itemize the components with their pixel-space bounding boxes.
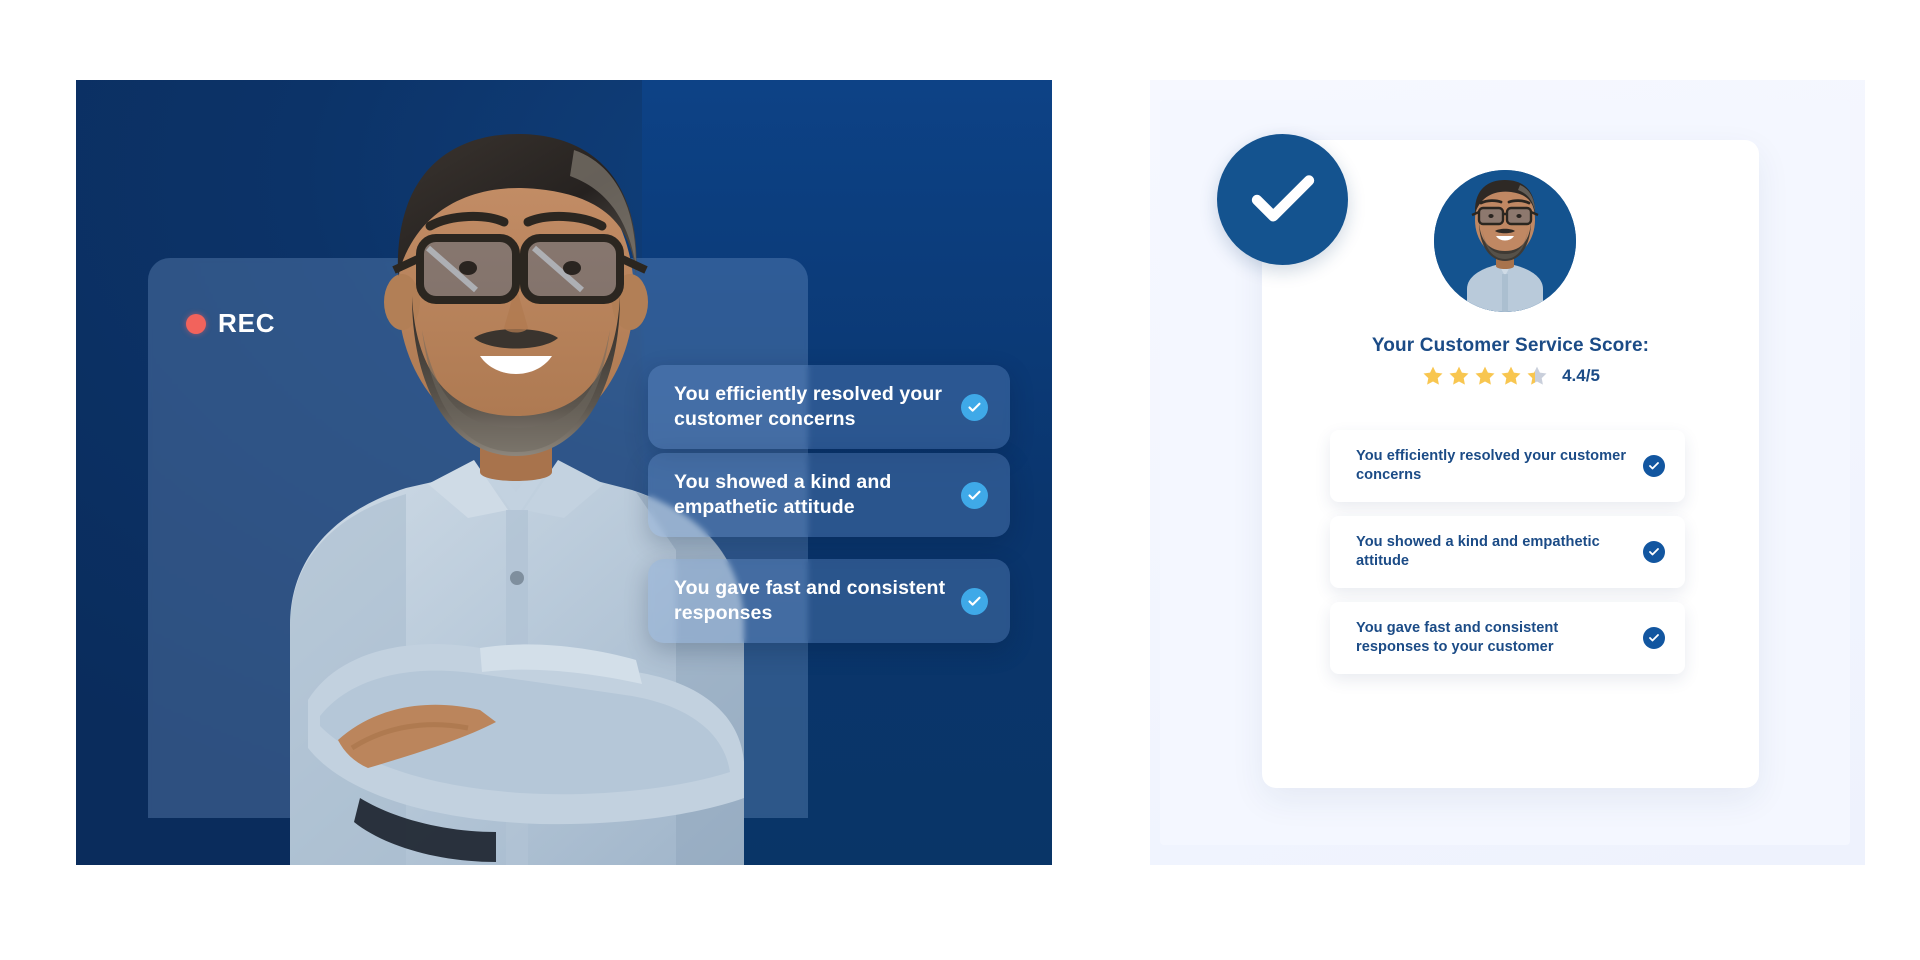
feedback-chip[interactable]: You gave fast and consistent responses xyxy=(648,559,1010,643)
rating-value: 4.4/5 xyxy=(1562,366,1600,386)
star-rating xyxy=(1421,364,1549,388)
rec-label: REC xyxy=(218,308,275,339)
screenshot-root: REC You efficiently resolved your custom… xyxy=(0,0,1920,960)
rec-overlay-card xyxy=(148,258,808,818)
recording-dot-icon xyxy=(186,314,206,334)
check-circle-icon xyxy=(961,482,988,509)
feedback-chip-label: You showed a kind and empathetic attitud… xyxy=(674,470,947,520)
avatar-photo xyxy=(1434,170,1576,312)
check-badge-icon xyxy=(1217,134,1348,265)
feedback-card[interactable]: You gave fast and consistent responses t… xyxy=(1330,602,1685,674)
rating-row: 4.4/5 xyxy=(1262,364,1759,388)
star-icon xyxy=(1499,364,1523,388)
feedback-card[interactable]: You efficiently resolved your customer c… xyxy=(1330,430,1685,502)
feedback-card-label: You showed a kind and empathetic attitud… xyxy=(1356,533,1629,572)
star-icon-partial xyxy=(1525,364,1549,388)
avatar xyxy=(1434,170,1576,312)
check-circle-icon xyxy=(961,394,988,421)
feedback-card[interactable]: You showed a kind and empathetic attitud… xyxy=(1330,516,1685,588)
recording-preview-panel: REC You efficiently resolved your custom… xyxy=(76,80,1052,865)
feedback-card-label: You efficiently resolved your customer c… xyxy=(1356,447,1629,486)
feedback-card-label: You gave fast and consistent responses t… xyxy=(1356,619,1629,658)
check-circle-icon xyxy=(1643,541,1665,563)
feedback-chip[interactable]: You efficiently resolved your customer c… xyxy=(648,365,1010,449)
star-icon xyxy=(1421,364,1445,388)
check-circle-icon xyxy=(961,588,988,615)
check-circle-icon xyxy=(1643,455,1665,477)
feedback-chip-label: You gave fast and consistent responses xyxy=(674,576,947,626)
feedback-chip[interactable]: You showed a kind and empathetic attitud… xyxy=(648,453,1010,537)
star-icon xyxy=(1473,364,1497,388)
score-title: Your Customer Service Score: xyxy=(1262,335,1759,357)
feedback-chip-label: You efficiently resolved your customer c… xyxy=(674,382,947,432)
check-circle-icon xyxy=(1643,627,1665,649)
rec-badge: REC xyxy=(186,308,275,339)
star-icon xyxy=(1447,364,1471,388)
feedback-card-list: You efficiently resolved your customer c… xyxy=(1330,430,1685,688)
